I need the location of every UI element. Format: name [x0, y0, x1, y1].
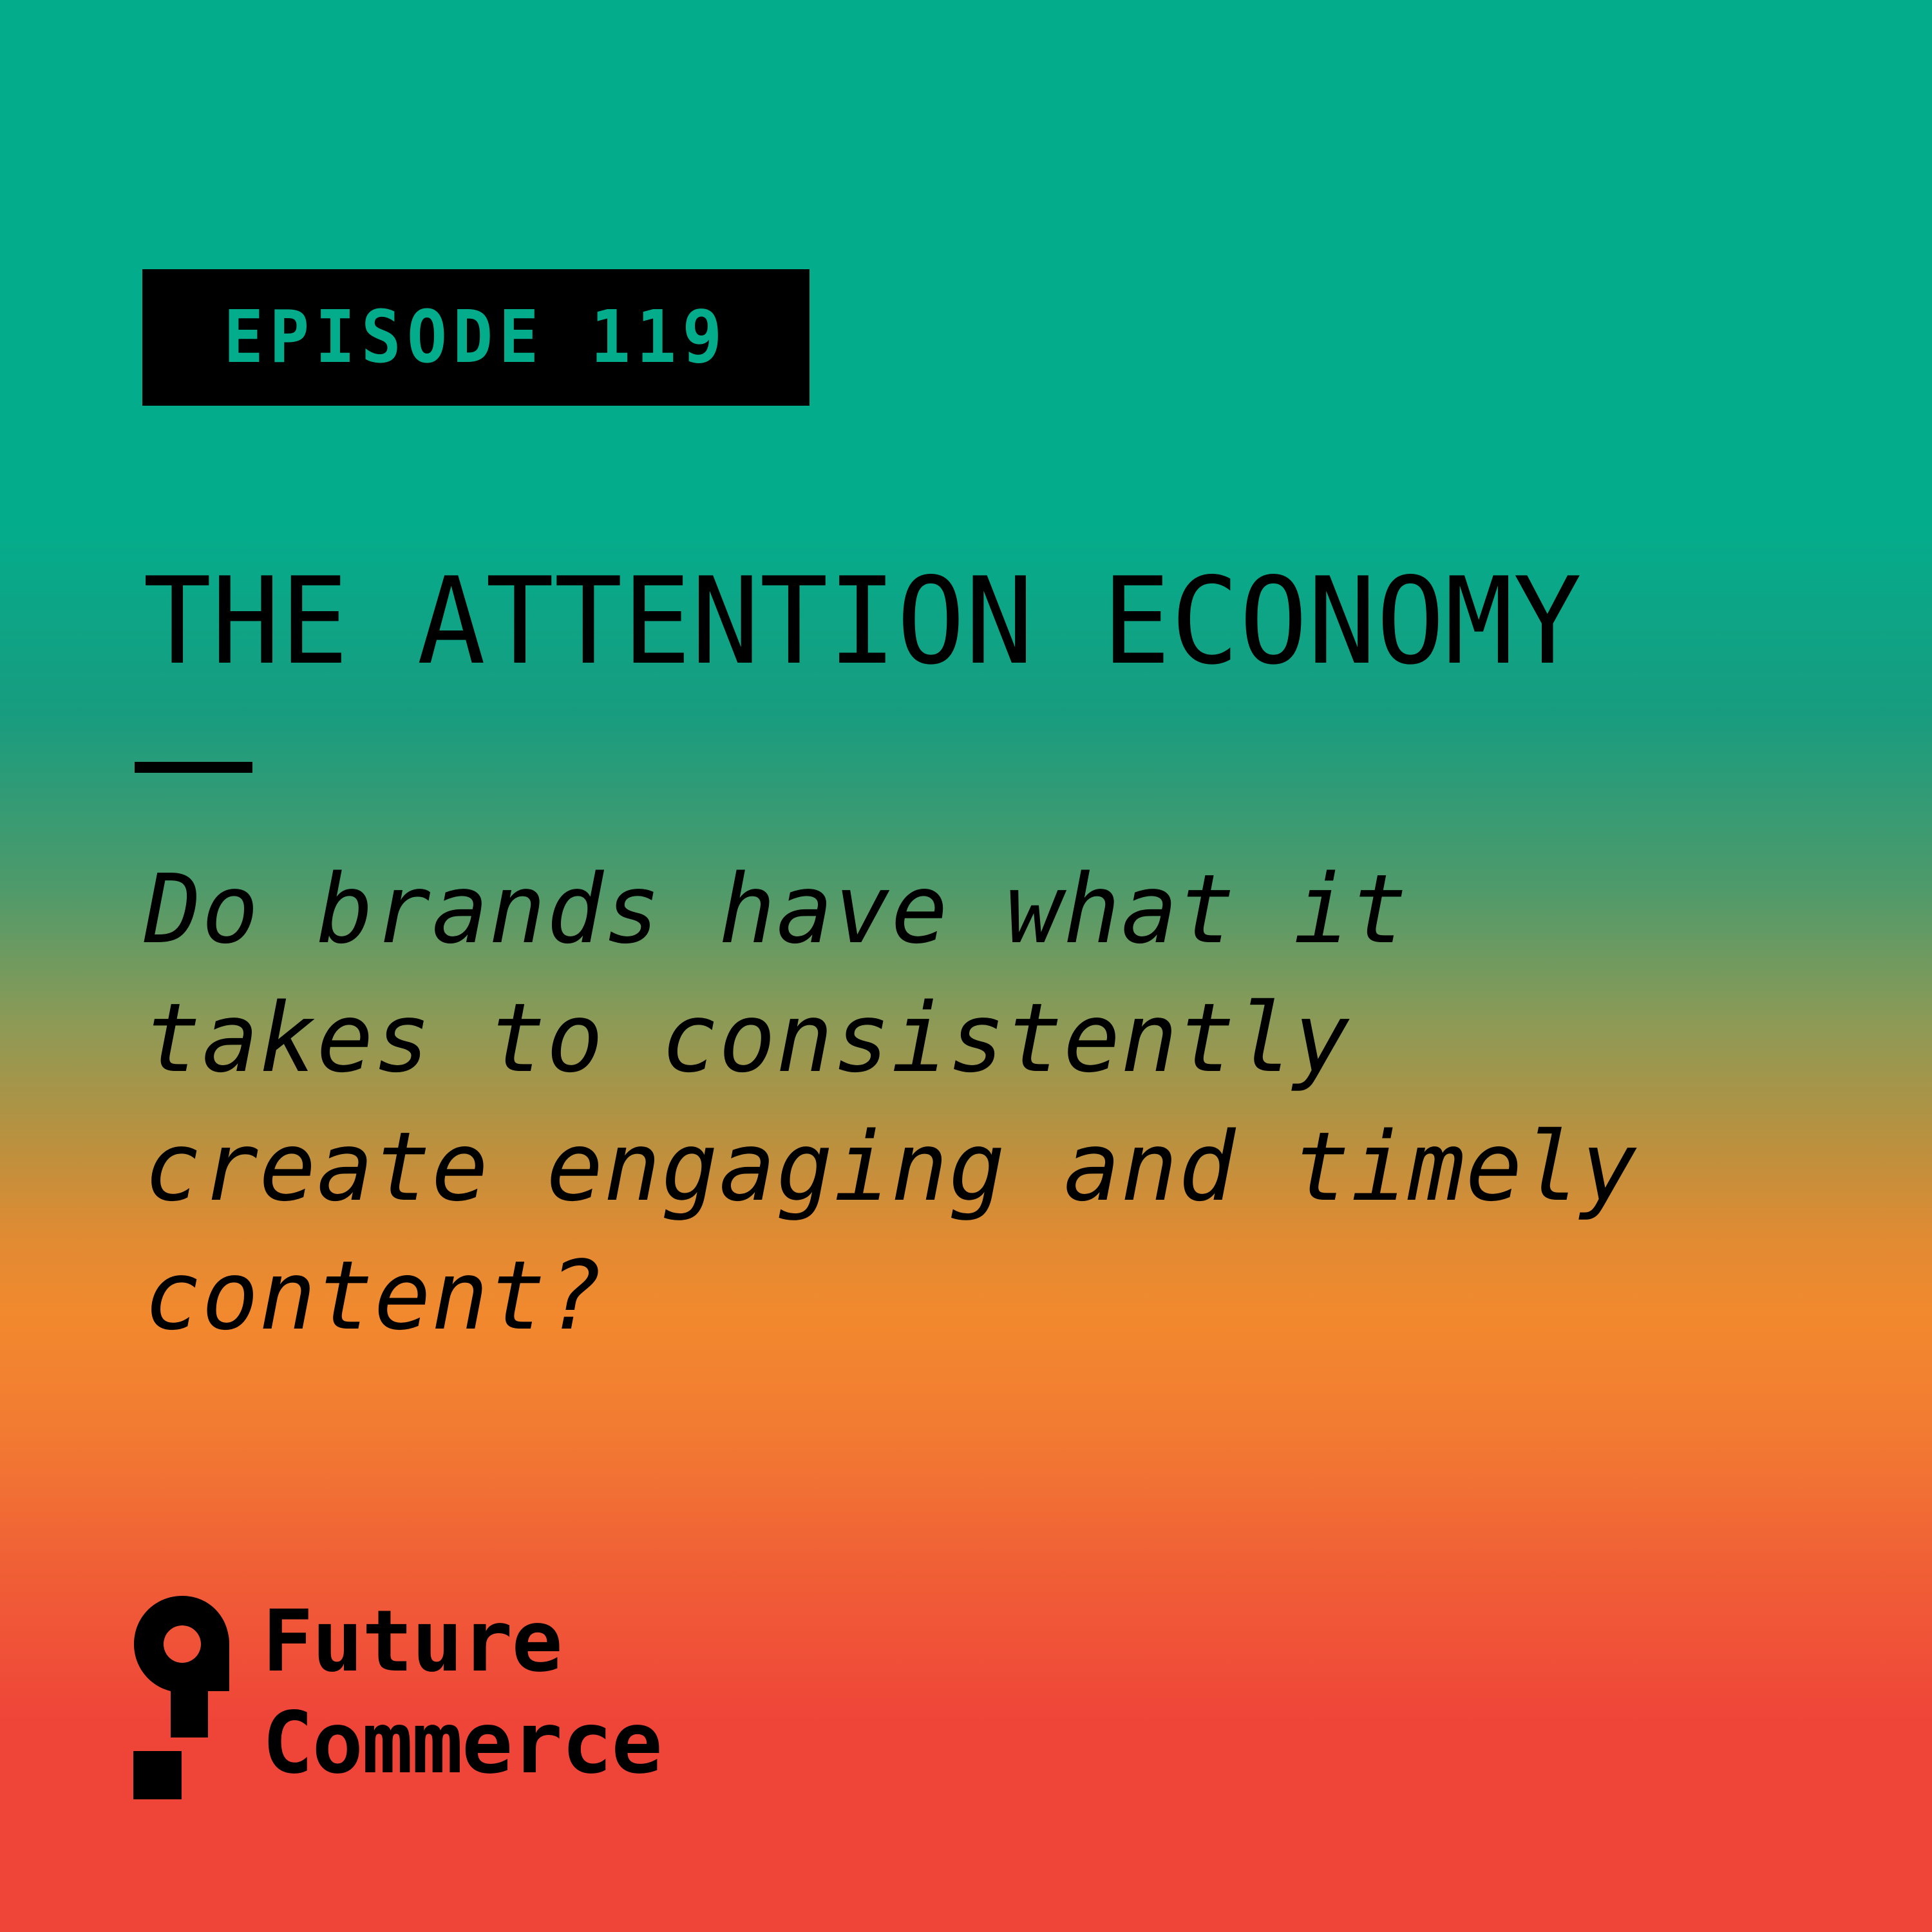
- brand-wordmark-line-2: Commerce: [262, 1692, 661, 1794]
- brand-logo: Future Commerce: [133, 1591, 661, 1807]
- episode-title: THE ATTENTION ECONOMY: [143, 562, 1582, 681]
- podcast-episode-cover: EPISODE 119 THE ATTENTION ECONOMY Do bra…: [0, 0, 1932, 1932]
- future-commerce-mark-icon: [133, 1595, 230, 1807]
- subtitle-line-3: create engaging and timely: [144, 1103, 1776, 1231]
- brand-wordmark: Future Commerce: [262, 1591, 661, 1794]
- episode-subtitle: Do brands have what it takes to consiste…: [144, 845, 1793, 1360]
- episode-badge: EPISODE 119: [142, 269, 810, 406]
- brand-wordmark-line-1: Future: [262, 1591, 661, 1692]
- subtitle-line-1: Do brands have what it: [144, 845, 1776, 974]
- title-divider-rule: [135, 762, 252, 773]
- episode-badge-label: EPISODE 119: [223, 301, 728, 374]
- subtitle-line-4: content?: [144, 1231, 1776, 1360]
- subtitle-line-2: takes to consistently: [144, 974, 1776, 1103]
